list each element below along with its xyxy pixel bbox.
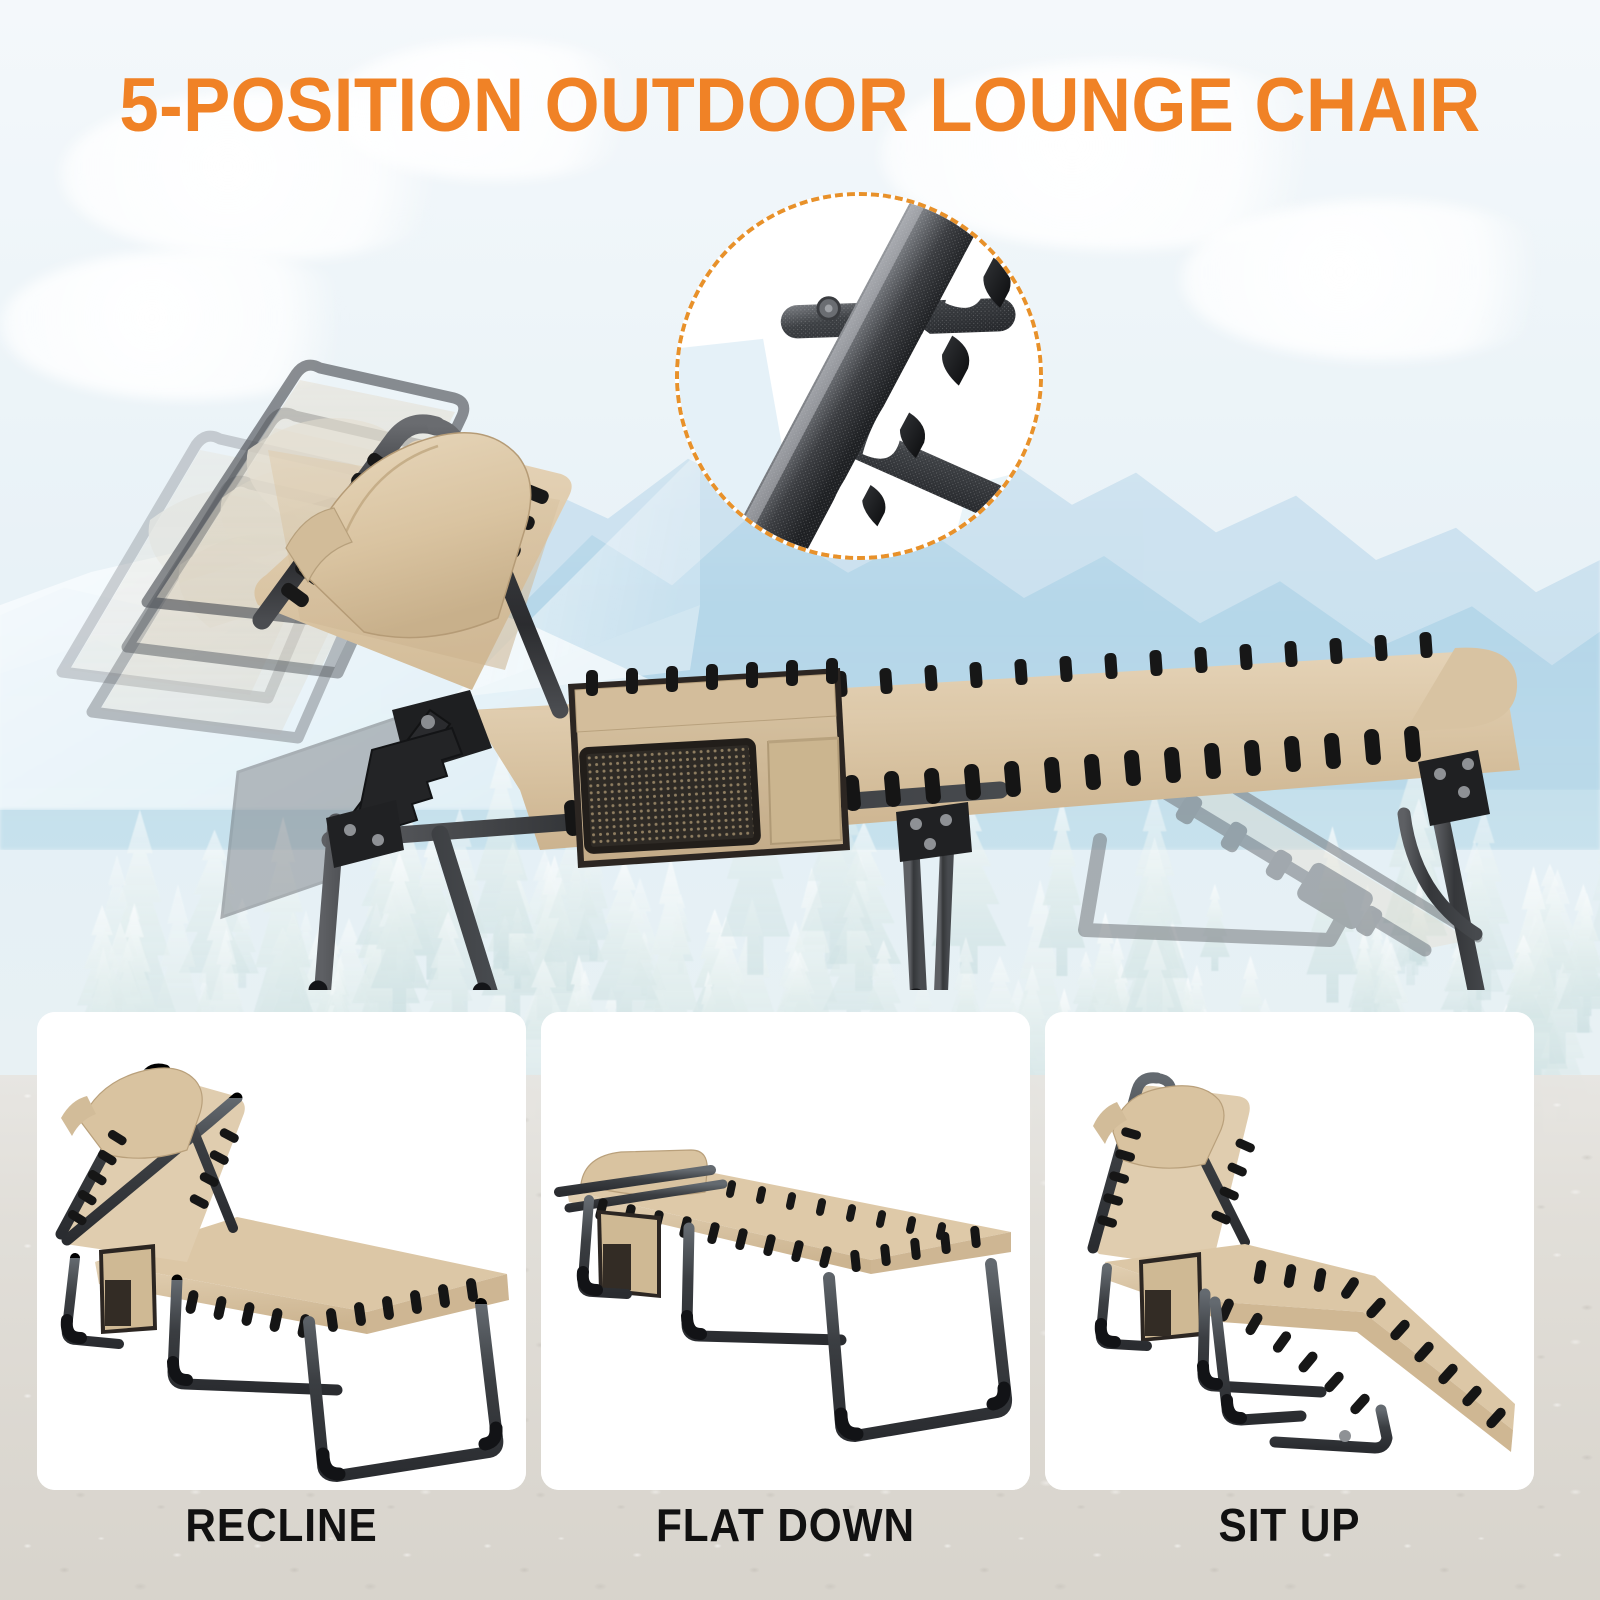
small-pocket: [768, 738, 841, 844]
pose-label-row: RECLINE FLAT DOWN SIT UP: [0, 1498, 1600, 1568]
pose-card-recline[interactable]: [37, 1012, 526, 1490]
rear-right-leg: [1404, 750, 1498, 990]
product-infographic: 5-POSITION OUTDOOR LOUNGE CHAIR: [0, 0, 1600, 1600]
side-pocket: [597, 1210, 661, 1298]
side-pocket: [99, 1244, 157, 1334]
pose-card-row: [0, 1012, 1600, 1492]
detail-callout-circle: [675, 192, 1043, 560]
side-pocket-organizer: [568, 668, 850, 868]
pose-label-flat-down: FLAT DOWN: [561, 1498, 1011, 1552]
ratchet-bracket-detail-icon: [675, 192, 1043, 560]
pose-label-sit-up: SIT UP: [1065, 1498, 1515, 1552]
pose-card-flat-down[interactable]: [541, 1012, 1030, 1490]
page-title: 5-POSITION OUTDOOR LOUNGE CHAIR: [56, 62, 1544, 149]
middle-support-leg: [896, 802, 972, 990]
pose-label-recline: RECLINE: [57, 1498, 507, 1552]
pose-card-sit-up[interactable]: [1045, 1012, 1534, 1490]
side-pocket: [1139, 1252, 1203, 1342]
mesh-pocket: [582, 741, 757, 850]
